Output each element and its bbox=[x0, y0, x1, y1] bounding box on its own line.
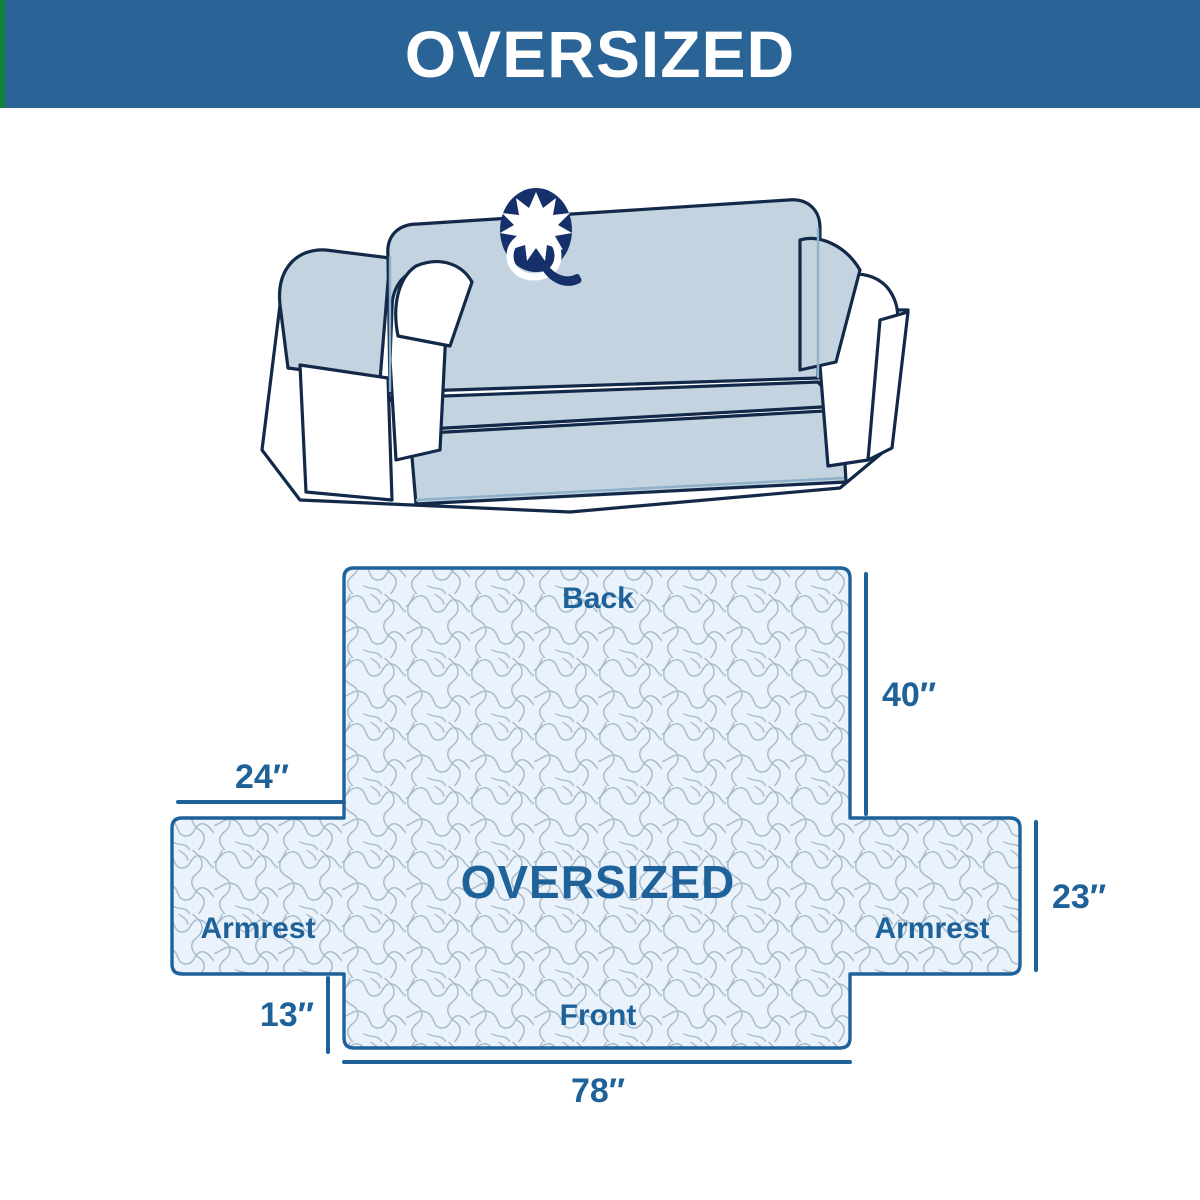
sofa-illustration bbox=[240, 130, 960, 520]
dimension-value-40: 40″ bbox=[882, 676, 936, 714]
dimension-value-23: 23″ bbox=[1052, 878, 1106, 916]
sofa-left-arm-front bbox=[300, 365, 392, 500]
sofa-left-arm-outer bbox=[280, 250, 390, 380]
cover-flat-shape bbox=[172, 568, 1020, 1048]
center-label-oversized: OVERSIZED bbox=[461, 856, 736, 908]
dimension-value-13: 13″ bbox=[260, 996, 314, 1034]
dimension-back-depth: 24″ bbox=[178, 758, 344, 802]
dimension-front-width: 78″ bbox=[344, 1062, 850, 1110]
size-chart-page: OVERSIZED bbox=[0, 0, 1200, 1200]
dimension-value-24: 24″ bbox=[235, 758, 289, 796]
flat-layout-diagram: Back Armrest Armrest Front OVERSIZED 24″… bbox=[150, 530, 1110, 1110]
page-title: OVERSIZED bbox=[405, 21, 795, 87]
dimension-value-78: 78″ bbox=[571, 1072, 625, 1110]
dimension-back-height: 40″ bbox=[866, 574, 936, 814]
header-banner: OVERSIZED bbox=[0, 0, 1200, 108]
panel-label-front: Front bbox=[560, 999, 637, 1032]
header-accent-stripe bbox=[0, 0, 5, 108]
panel-label-back: Back bbox=[562, 582, 634, 615]
sofa-body-group bbox=[262, 200, 908, 512]
dimension-armrest-height: 23″ bbox=[1036, 822, 1106, 970]
panel-label-armrest-right: Armrest bbox=[874, 912, 989, 945]
dimension-front-depth: 13″ bbox=[260, 978, 328, 1052]
panel-label-armrest-left: Armrest bbox=[200, 912, 315, 945]
